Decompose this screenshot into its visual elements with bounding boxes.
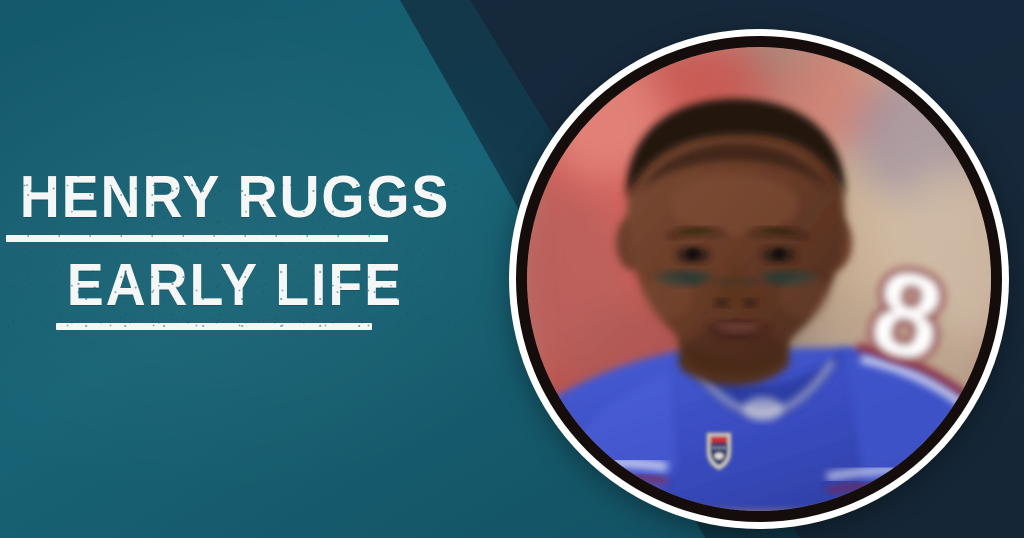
headline-title-secondary: EARLY LIFE [67,256,403,315]
nfl-shield-icon [707,433,731,470]
player-photo-illustration: 8 [527,47,991,511]
headline-block: HENRY RUGGS EARLY LIFE [0,168,470,330]
portrait-circle: 8 [509,29,1009,529]
headline-line-1: HENRY RUGGS [6,168,464,242]
banner-root: HENRY RUGGS EARLY LIFE [0,0,1024,538]
portrait-photo: 8 [527,47,991,511]
headline-underline-1 [6,235,388,242]
headline-line-2: EARLY LIFE [56,256,414,330]
headline-title-primary: HENRY RUGGS [20,168,451,227]
headline-underline-2 [56,323,372,330]
